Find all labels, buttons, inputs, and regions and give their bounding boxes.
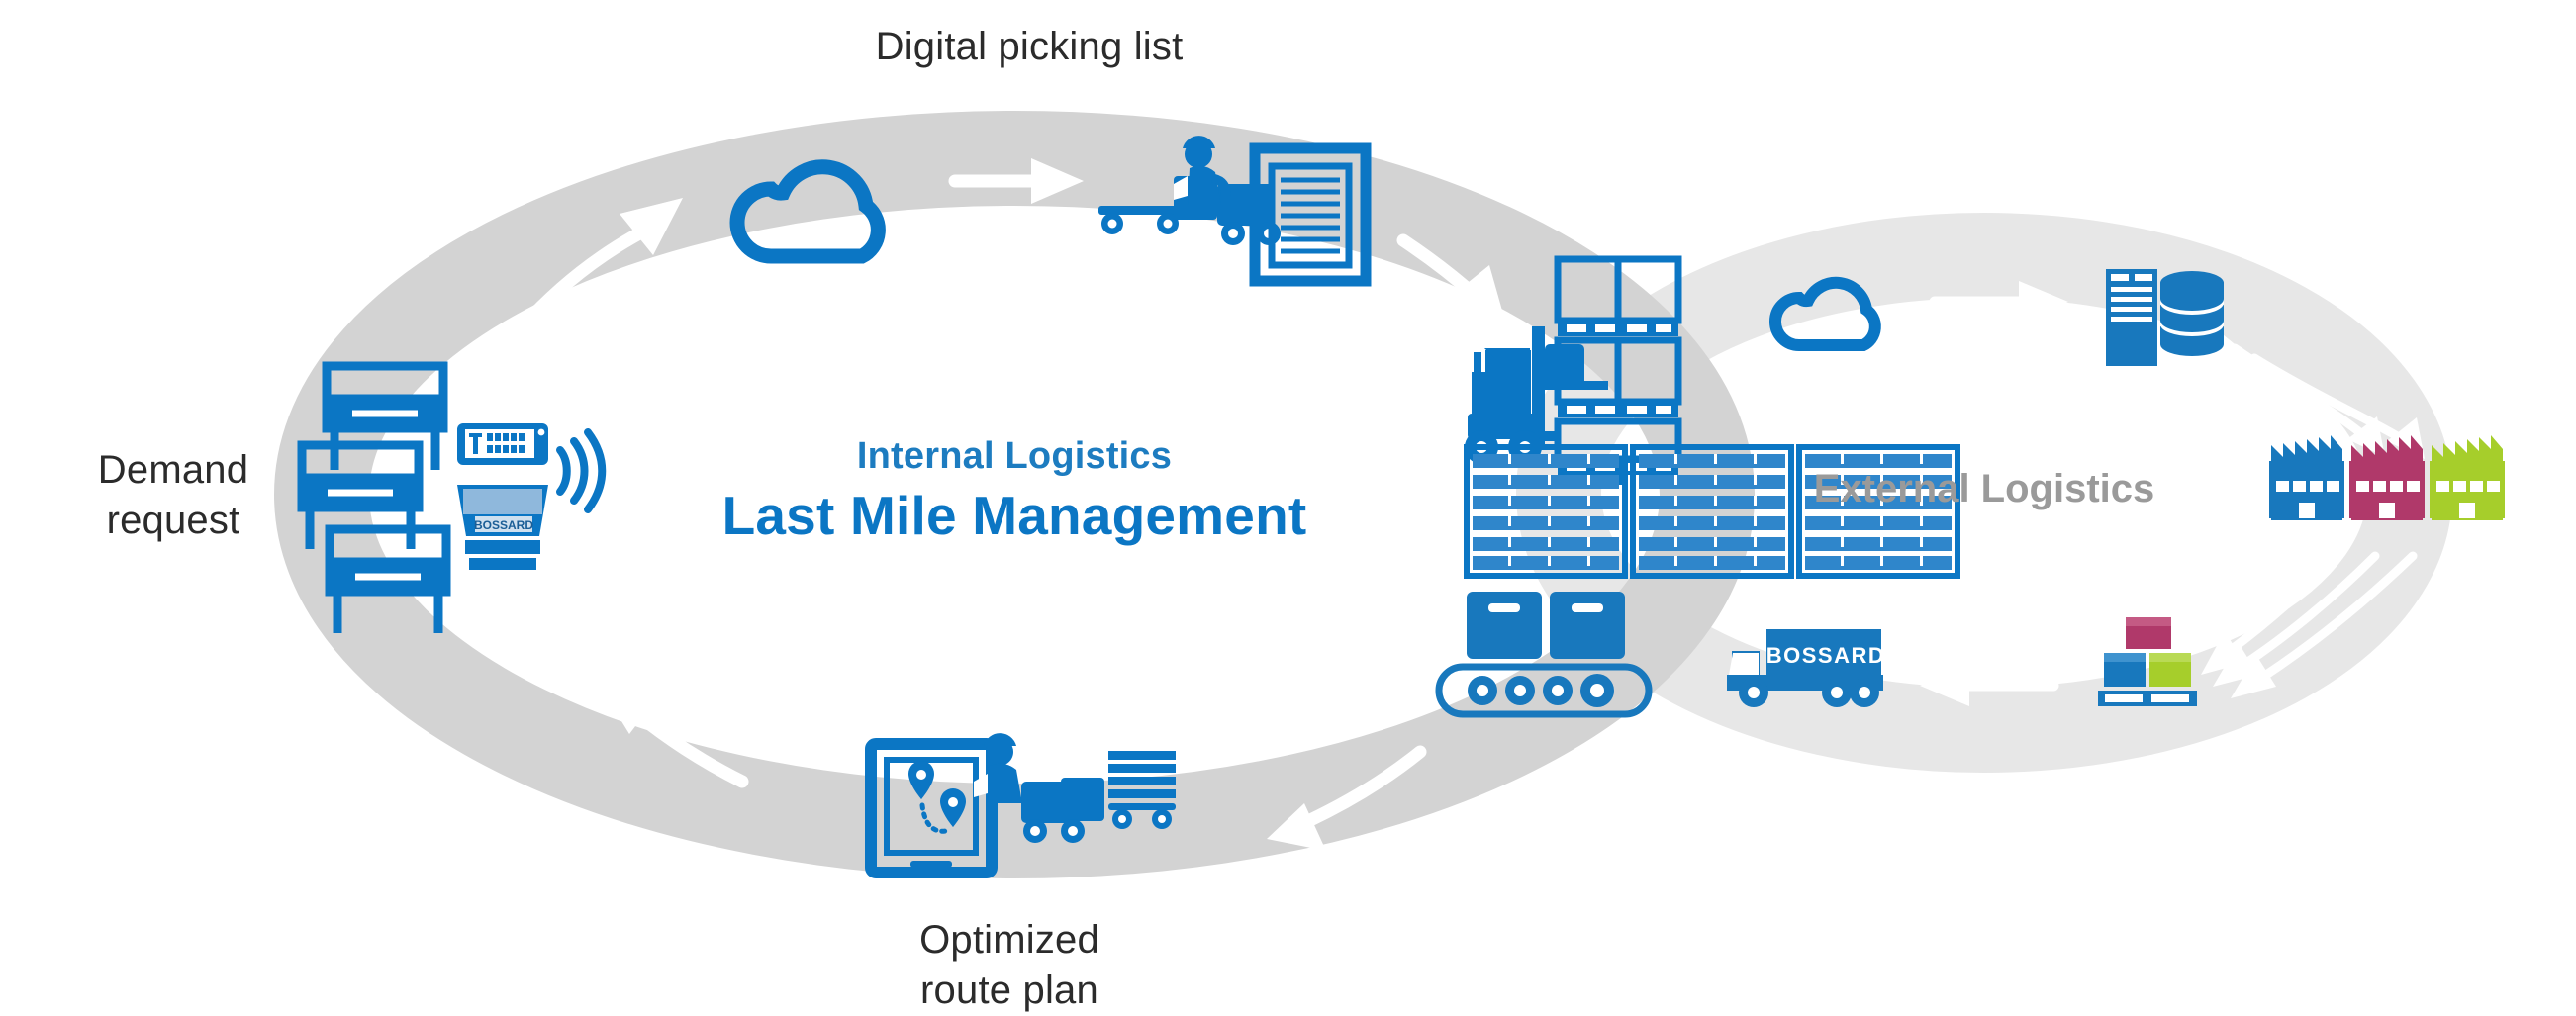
picking-list-document-icon (1255, 148, 1366, 281)
factory-icon-blue (2269, 435, 2344, 520)
server-database-icon (2106, 269, 2224, 366)
infographic-canvas: BOSSARD (0, 0, 2576, 1015)
optimized-route-plan-line1: Optimized (762, 915, 1257, 966)
last-mile-management-title: Last Mile Management (520, 484, 1509, 547)
internal-logistics-subtitle: Internal Logistics (520, 435, 1509, 478)
optimized-route-plan-line2: route plan (762, 966, 1257, 1016)
external-logistics-title: External Logistics (1781, 467, 2187, 511)
pallet-goods-icon (2098, 617, 2197, 706)
optimized-route-plan-label: Optimized route plan (762, 915, 1257, 1016)
digital-picking-list-label: Digital picking list (782, 22, 1277, 72)
demand-request-label: Demand request (40, 445, 307, 546)
truck-brand-label: BOSSARD (1766, 643, 1886, 668)
internal-logistics-title-block: Internal Logistics Last Mile Management (520, 435, 1509, 547)
demand-request-line2: request (40, 496, 307, 546)
demand-request-line1: Demand (40, 445, 307, 496)
